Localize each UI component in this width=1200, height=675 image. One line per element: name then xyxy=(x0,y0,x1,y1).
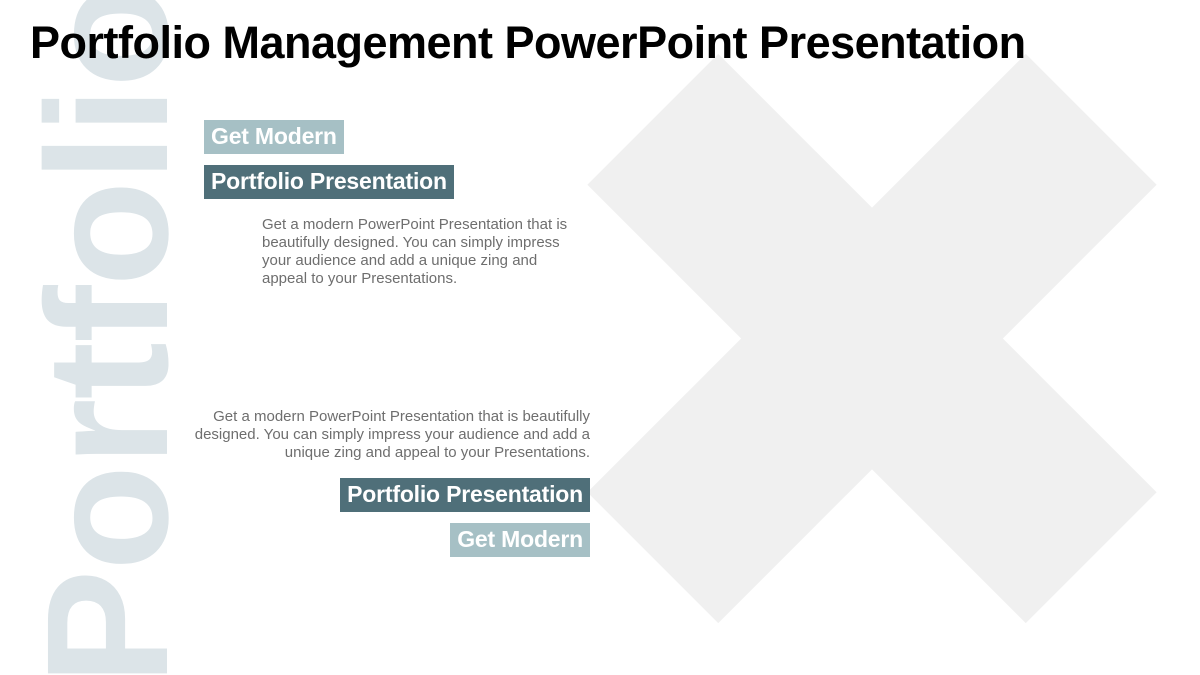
body-paragraph-top: Get a modern PowerPoint Presentation tha… xyxy=(262,216,584,288)
heading-row-secondary-top: Portfolio Presentation xyxy=(204,165,584,199)
heading-portfolio-presentation-top: Portfolio Presentation xyxy=(204,165,454,199)
content-block-bottom: Get a modern PowerPoint Presentation tha… xyxy=(190,408,590,557)
heading-row-primary-top: Get Modern xyxy=(204,120,584,154)
heading-row-primary-bottom: Portfolio Presentation xyxy=(190,478,590,512)
portfolio-watermark-text: Portfolio xyxy=(22,0,192,675)
body-paragraph-bottom: Get a modern PowerPoint Presentation tha… xyxy=(190,408,590,462)
heading-portfolio-presentation-bottom: Portfolio Presentation xyxy=(340,478,590,512)
page-title: Portfolio Management PowerPoint Presenta… xyxy=(30,14,1180,72)
presentation-slide: Portfolio Portfolio Management PowerPoin… xyxy=(0,0,1200,675)
heading-get-modern-top: Get Modern xyxy=(204,120,344,154)
x-mark-stroke-b xyxy=(587,54,1156,623)
x-mark-icon xyxy=(628,93,1115,583)
x-mark-stroke-a xyxy=(587,54,1156,623)
heading-row-secondary-bottom: Get Modern xyxy=(190,523,590,557)
heading-get-modern-bottom: Get Modern xyxy=(450,523,590,557)
content-block-top: Get Modern Portfolio Presentation Get a … xyxy=(204,120,584,288)
